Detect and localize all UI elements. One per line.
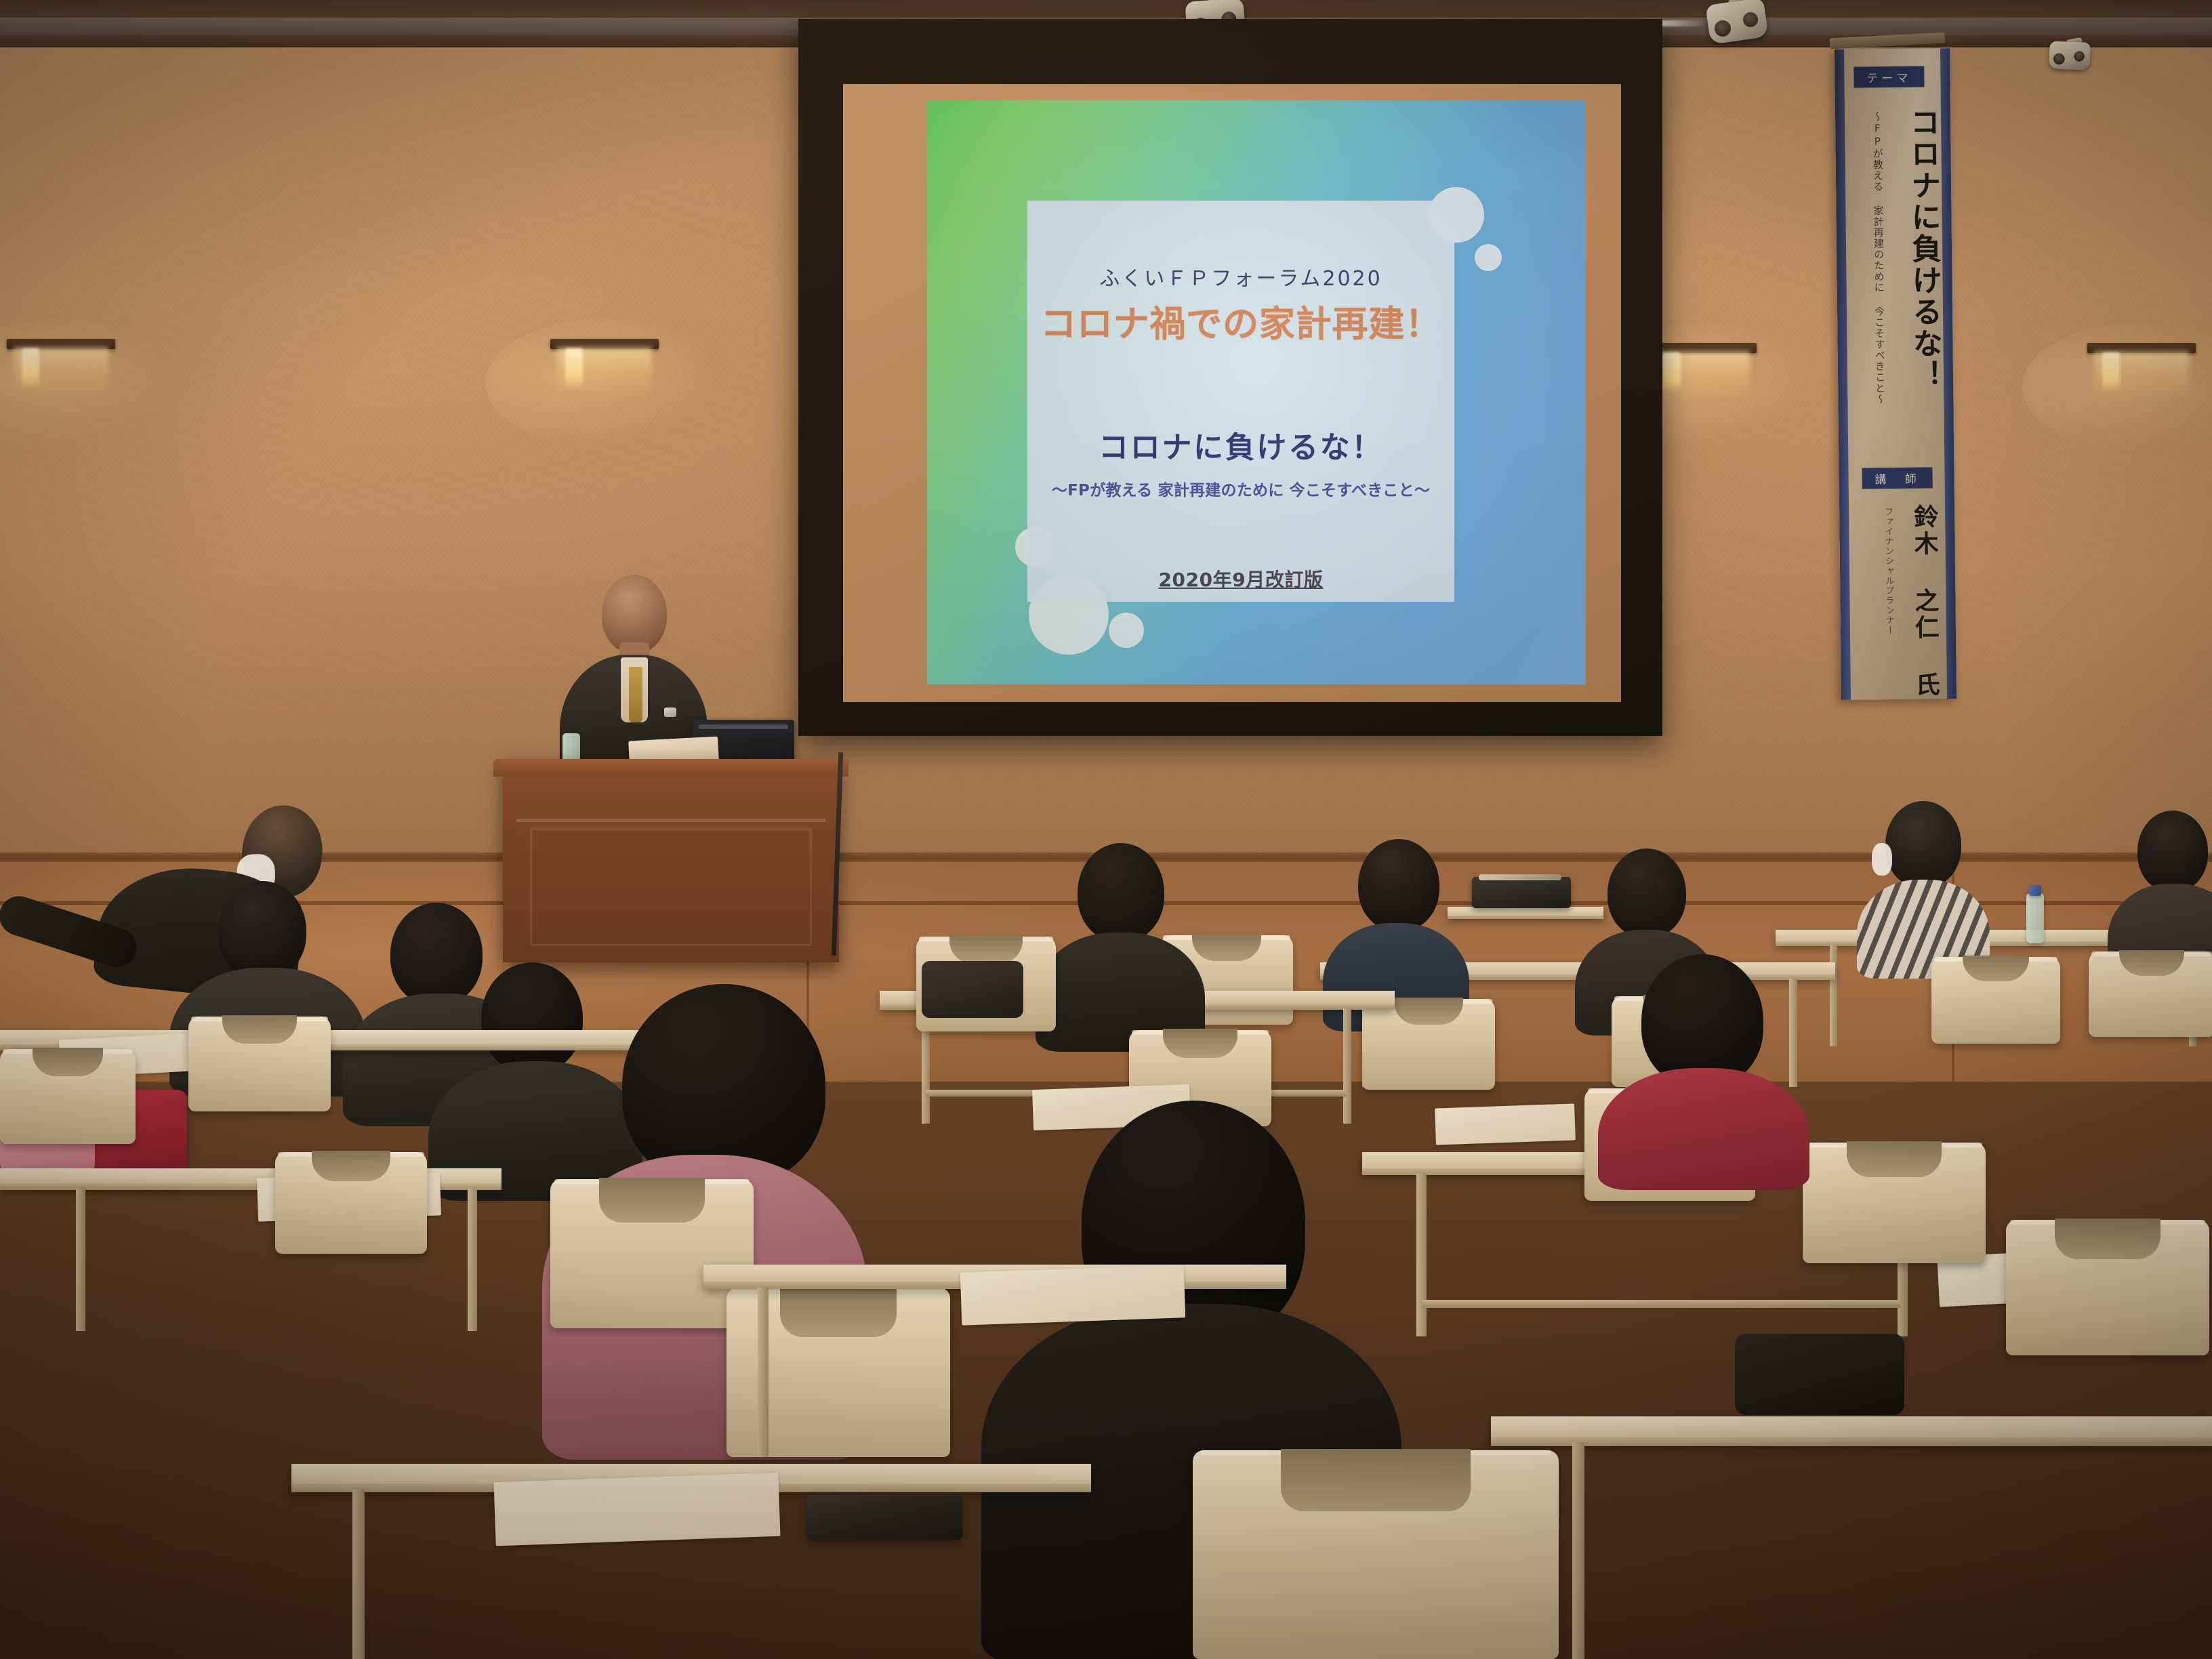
slide-sub-title: コロナに負けるな！ — [1027, 423, 1454, 466]
projector-top-strip — [1479, 874, 1561, 880]
head — [1607, 848, 1686, 938]
event-banner: テーマ コロナに負けるな！ ～FPが教える 家計再建のために 今こそすべきこと～… — [1835, 48, 1957, 700]
bottle-cap — [2029, 885, 2041, 896]
wall-sconce-icon — [1648, 343, 1757, 405]
torso — [1598, 1068, 1809, 1190]
head — [2137, 811, 2208, 892]
slide-card: ふくいＦＰフォーラム2020 コロナ禍での家計再建！ コロナに負けるな！ ～FP… — [1027, 201, 1454, 602]
chair — [1803, 1143, 1986, 1263]
table-leg — [352, 1490, 365, 1659]
face-mask — [1872, 843, 1892, 876]
table-leg — [1416, 1174, 1427, 1336]
table-leg — [468, 1189, 477, 1331]
presenter-lapel-badge — [664, 708, 676, 717]
slide-revision: 2020年9月改訂版 — [1027, 565, 1454, 592]
chair — [0, 1049, 136, 1144]
chair — [188, 1017, 331, 1111]
chair — [2006, 1220, 2209, 1355]
screen-mat: ふくいＦＰフォーラム2020 コロナ禍での家計再建！ コロナに負けるな！ ～FP… — [843, 84, 1621, 702]
table-leg — [1572, 1442, 1584, 1659]
banner-theme-label: テーマ — [1853, 66, 1924, 88]
banner-speaker-label: 講 師 — [1862, 467, 1932, 489]
head — [1078, 843, 1164, 942]
slide-main-title: コロナ禍での家計再建！ — [1027, 295, 1454, 347]
decorative-bubble — [1475, 244, 1502, 271]
podium — [503, 759, 839, 962]
banner-speaker-name: 鈴木 之仁 氏 — [1906, 504, 1943, 699]
wall-sconce-icon — [2087, 343, 2196, 405]
handout-paper — [1435, 1103, 1576, 1145]
chair — [1362, 999, 1495, 1090]
head — [1358, 839, 1439, 931]
attendee-patterned-shirt — [1857, 801, 1986, 964]
shoulder-bag — [922, 961, 1023, 1018]
table-leg — [758, 1288, 769, 1457]
seminar-room-photo: ふくいＦＰフォーラム2020 コロナ禍での家計再建！ コロナに負けるな！ ～FP… — [0, 0, 2212, 1659]
attendee-center-aisle — [1042, 843, 1198, 1033]
banner-title: コロナに負けるな！ — [1900, 106, 1946, 391]
table-brace — [1422, 1300, 1900, 1308]
projector — [1472, 877, 1571, 908]
handout-paper — [493, 1473, 780, 1547]
presenter-head — [602, 575, 667, 653]
banner-subtitle: ～FPが教える 家計再建のために 今こそすべきこと～ — [1870, 111, 1888, 405]
attendee-center-right — [1328, 839, 1464, 1015]
slide-forum-label: ふくいＦＰフォーラム2020 — [1027, 262, 1454, 291]
wall-sconce-icon — [550, 339, 659, 401]
attendee-far-right — [2114, 811, 2212, 966]
wall-sconce-icon — [7, 339, 115, 401]
chair — [2089, 951, 2212, 1037]
chair — [1931, 957, 2060, 1044]
head — [1885, 801, 1961, 888]
head — [218, 881, 306, 980]
handout-paper — [960, 1265, 1186, 1325]
presentation-slide: ふくいＦＰフォーラム2020 コロナ禍での家計再建！ コロナに負けるな！ ～FP… — [927, 100, 1586, 684]
projection-screen: ふくいＦＰフォーラム2020 コロナ禍での家計再建！ コロナに負けるな！ ～FP… — [798, 19, 1662, 736]
head — [1641, 954, 1763, 1087]
banner-speaker-ruby: ファイナンシャルプランナー — [1881, 507, 1896, 635]
chair — [550, 1179, 754, 1328]
presenter-tie — [629, 667, 642, 722]
floor-bag — [1735, 1334, 1904, 1415]
personal-pouch — [806, 1495, 962, 1540]
attendee-red-top — [1606, 954, 1803, 1158]
chair — [275, 1152, 427, 1254]
table — [1491, 1416, 2212, 1446]
table-leg — [76, 1189, 85, 1331]
chair — [1193, 1450, 1559, 1659]
decorative-bubble — [1109, 613, 1144, 648]
table-leg — [1830, 945, 1837, 1046]
water-bottle — [2026, 893, 2044, 943]
slide-tagline: ～FPが教える 家計再建のために 今こそすべきこと～ — [1027, 477, 1454, 500]
ceiling-spot-icon — [1701, 0, 1776, 50]
